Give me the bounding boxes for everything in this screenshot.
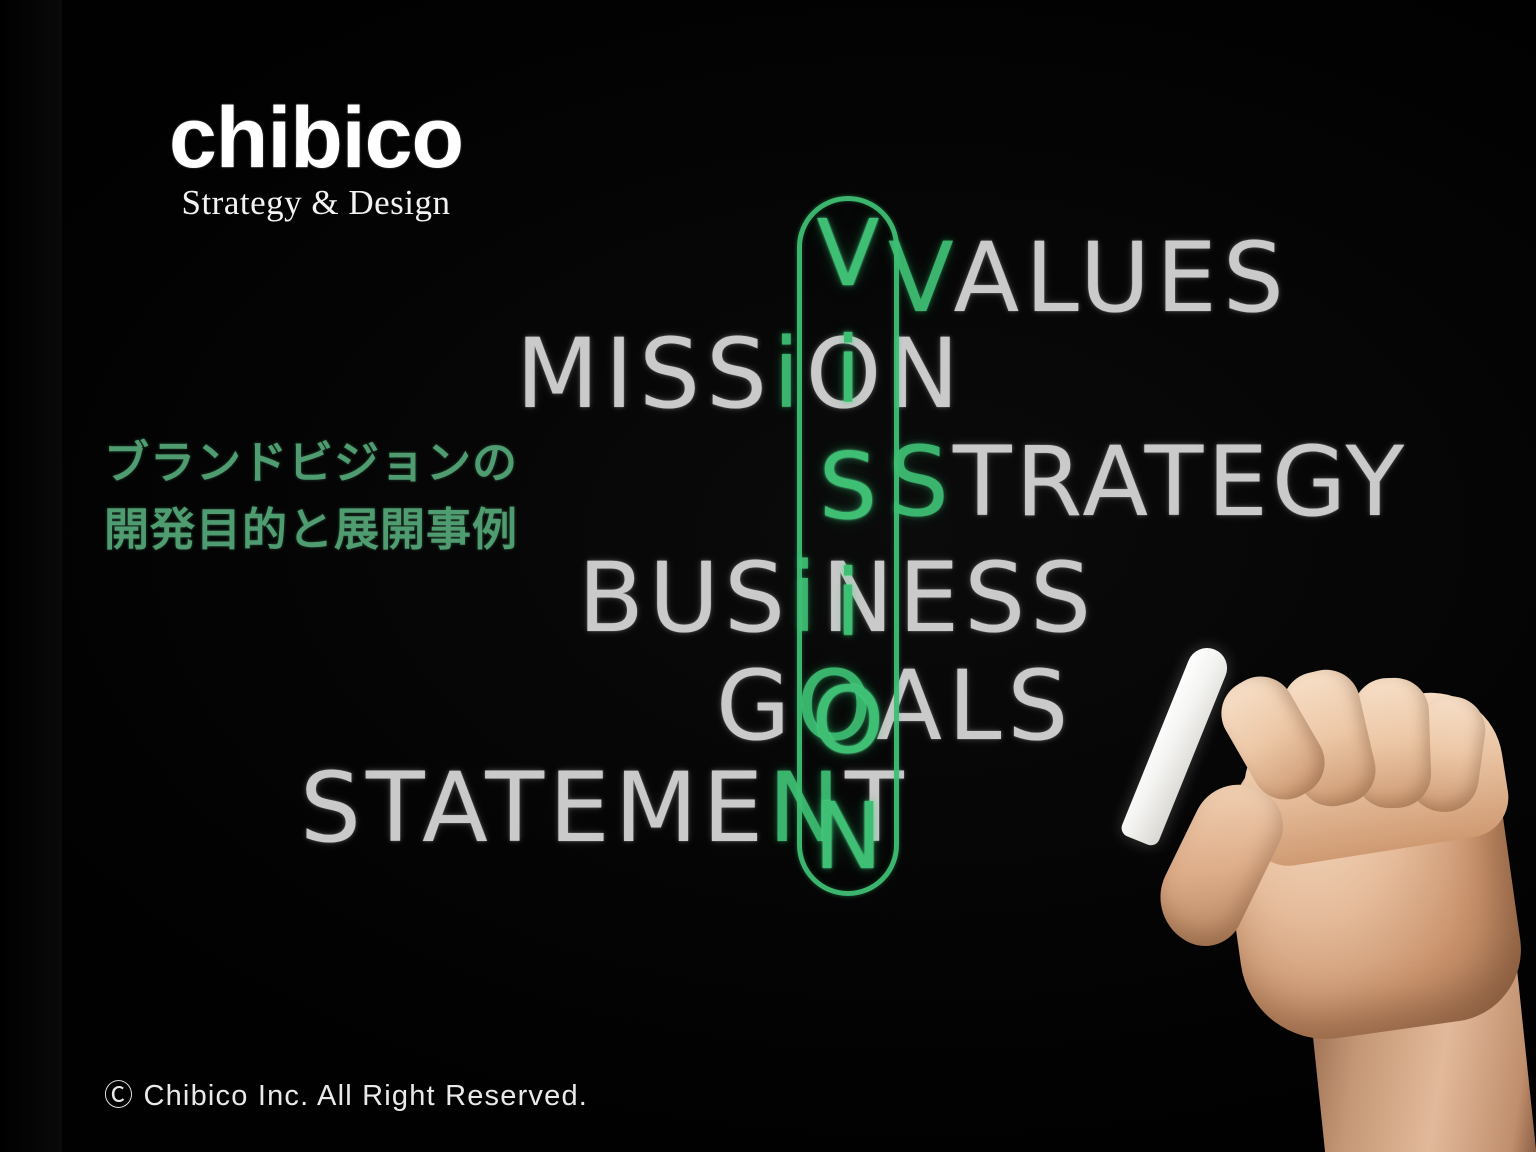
chalk-word-business-prefix: BUS <box>578 542 790 654</box>
page-title-line-2: 開発目的と展開事例 <box>104 497 518 564</box>
chalk-word-statement-prefix: STATEME <box>300 752 768 864</box>
chalk-word-mission-prefix: MISS <box>516 318 773 430</box>
chalk-word-values-suffix: ALUES <box>954 222 1290 334</box>
chalk-word-strategy-suffix: TRATEGY <box>953 426 1408 538</box>
logo-tagline: Strategy & Design <box>106 184 526 223</box>
page-title-line-1: ブランドビジョンの <box>104 430 518 497</box>
copyright-notice: Ⓒ Chibico Inc. All Right Reserved. <box>104 1072 588 1114</box>
logo-wordmark: chibico <box>106 96 526 180</box>
brand-logo: chibico Strategy & Design <box>106 96 526 223</box>
chalk-word-goals-suffix: ALS <box>876 650 1074 762</box>
chalk-word-strategy: STRATEGY <box>888 426 1408 538</box>
vision-highlight-capsule <box>797 196 899 896</box>
slide-canvas: VALUES MISSiON STRATEGY BUSiNESS GOALS S… <box>0 0 1536 1152</box>
chalk-word-goals-prefix: G <box>716 650 796 762</box>
hand-holding-chalk <box>1120 630 1536 1152</box>
page-title: ブランドビジョンの 開発目的と展開事例 <box>104 430 518 563</box>
